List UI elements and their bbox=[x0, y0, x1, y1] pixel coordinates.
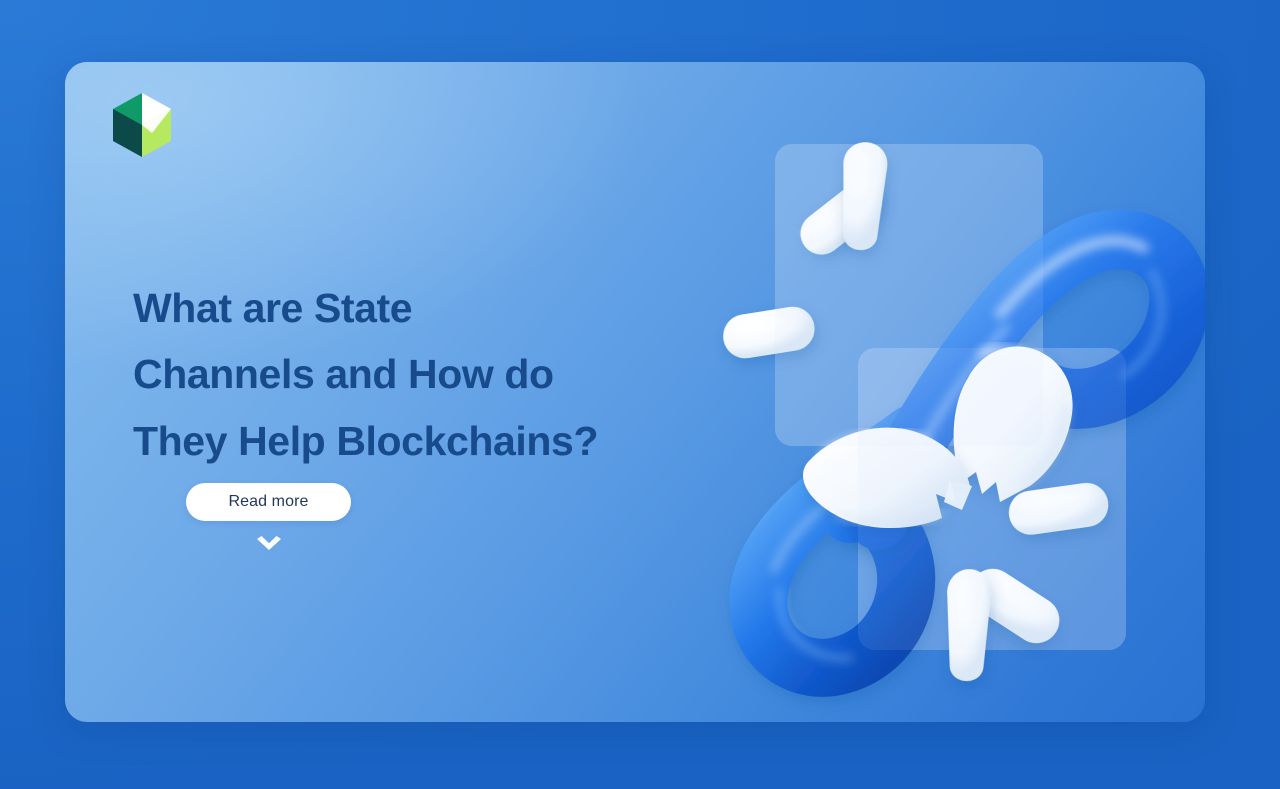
read-more-button[interactable]: Read more bbox=[186, 483, 351, 521]
chevron-down-icon[interactable] bbox=[252, 532, 286, 556]
brand-logo[interactable] bbox=[105, 93, 179, 157]
glass-panel-lower-overlay bbox=[858, 348, 1126, 650]
hero-illustration bbox=[700, 62, 1205, 722]
page-title: What are State Channels and How do They … bbox=[133, 275, 733, 474]
